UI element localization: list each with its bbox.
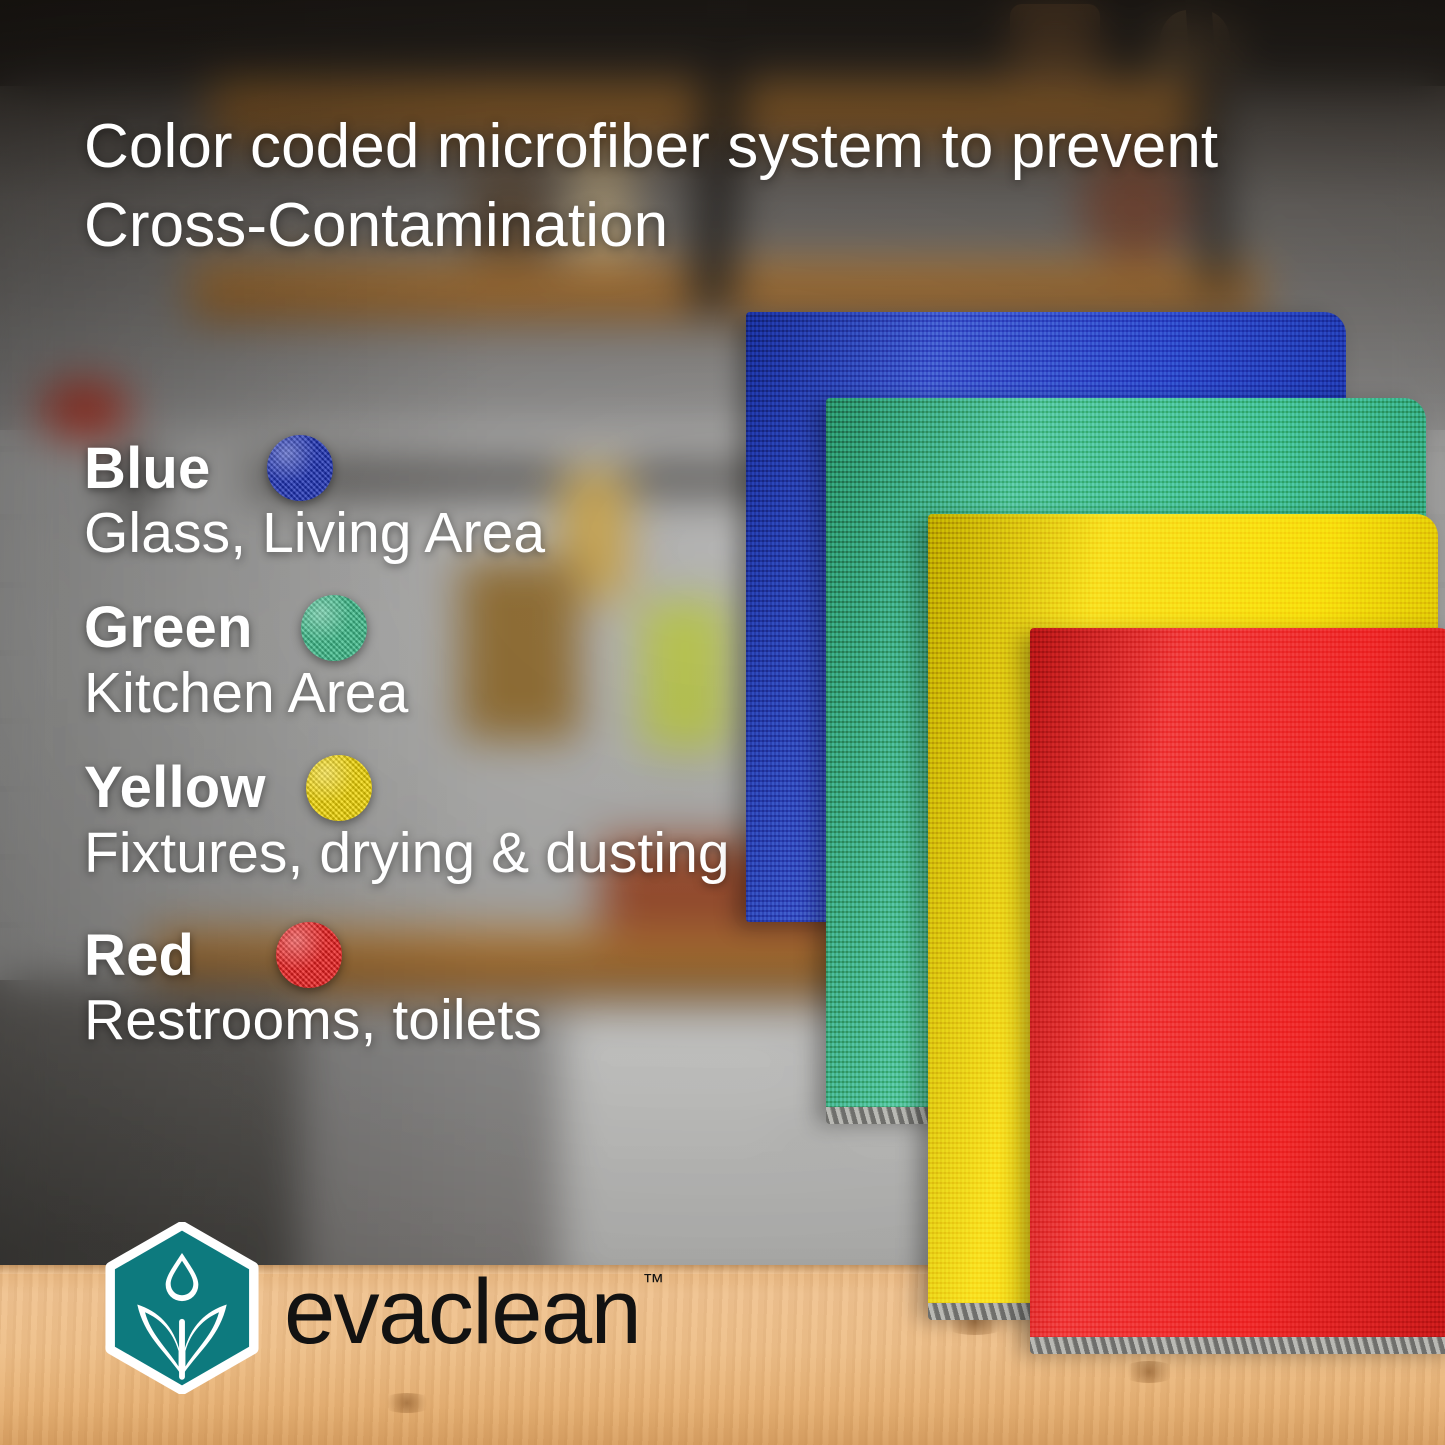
yellow-microfiber-dot-icon <box>306 755 372 821</box>
red-microfiber-dot-icon <box>276 922 342 988</box>
cloth-red <box>1030 628 1445 1348</box>
headline-line-1: Color coded microfiber system to prevent <box>84 108 1374 187</box>
legend-color-name-red: Red <box>84 922 194 989</box>
page-title: Color coded microfiber system to prevent… <box>84 108 1374 265</box>
brand-name: evaclean <box>284 1261 640 1363</box>
microfiber-cloth-stack <box>700 300 1445 1360</box>
legend-color-name-yellow: Yellow <box>84 754 266 821</box>
product-infographic: Color coded microfiber system to prevent… <box>0 0 1445 1445</box>
trademark-symbol: ™ <box>642 1269 664 1294</box>
headline-line-2: Cross-Contamination <box>84 187 1374 266</box>
green-microfiber-dot-icon <box>301 595 367 661</box>
legend-color-name-green: Green <box>84 594 253 661</box>
brand-logo: evaclean™ <box>96 1222 662 1394</box>
legend-color-name-blue: Blue <box>84 435 211 502</box>
evaclean-hexagon-leaf-droplet-icon <box>96 1222 268 1394</box>
blue-microfiber-dot-icon <box>267 435 333 501</box>
brand-wordmark: evaclean™ <box>284 1266 662 1358</box>
